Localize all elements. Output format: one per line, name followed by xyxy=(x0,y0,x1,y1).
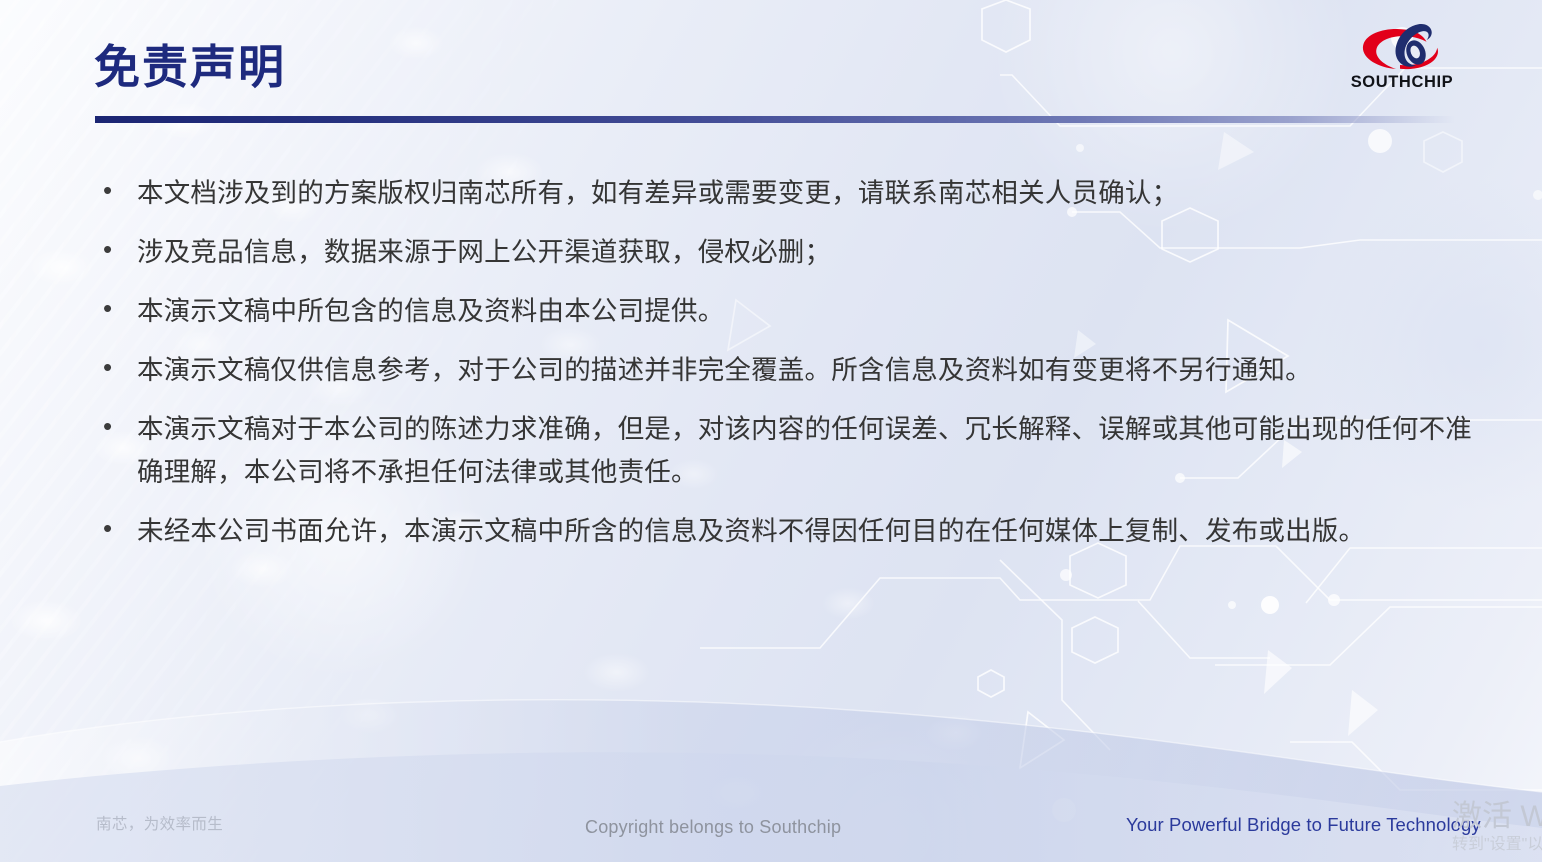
list-item: • 未经本公司书面允许，本演示文稿中所含的信息及资料不得因任何目的在任何媒体上复… xyxy=(95,510,1495,553)
southchip-logo-icon xyxy=(1356,22,1448,76)
list-item: • 本演示文稿中所包含的信息及资料由本公司提供。 xyxy=(95,290,1495,333)
footer-slogan: 南芯，为效率而生 xyxy=(96,812,223,834)
title-underline-rule xyxy=(95,116,1455,123)
list-item-text: 本演示文稿对于本公司的陈述力求准确，但是，对该内容的任何误差、冗长解释、误解或其… xyxy=(137,408,1495,494)
watermark-subtitle: 转到"设置"以激活 Windows xyxy=(1452,834,1542,856)
list-item-text: 本演示文稿仅供信息参考，对于公司的描述并非完全覆盖。所含信息及资料如有变更将不另… xyxy=(137,349,1495,392)
bullet-marker-icon: • xyxy=(95,408,137,444)
logo-wordmark: SOUTHCHIP xyxy=(1348,74,1456,91)
disclaimer-bullet-list: • 本文档涉及到的方案版权归南芯所有，如有差异或需要变更，请联系南芯相关人员确认… xyxy=(95,172,1495,569)
bullet-marker-icon: • xyxy=(95,349,137,385)
list-item-text: 涉及竞品信息，数据来源于网上公开渠道获取，侵权必删； xyxy=(137,231,1495,274)
windows-activation-watermark: 激活 Windows 转到"设置"以激活 Windows xyxy=(1452,800,1542,856)
presentation-slide: 免责声明 SOUTHCHIP • 本文档涉及到的方案版权归南芯所有，如有差异或需… xyxy=(0,0,1542,862)
page-title: 免责声明 xyxy=(94,44,286,90)
bullet-marker-icon: • xyxy=(95,510,137,546)
footer-copyright: Copyright belongs to Southchip xyxy=(585,817,841,838)
list-item-text: 本演示文稿中所包含的信息及资料由本公司提供。 xyxy=(137,290,1495,333)
list-item-text: 未经本公司书面允许，本演示文稿中所含的信息及资料不得因任何目的在任何媒体上复制、… xyxy=(137,510,1495,553)
list-item: • 本演示文稿对于本公司的陈述力求准确，但是，对该内容的任何误差、冗长解释、误解… xyxy=(95,408,1495,494)
bullet-marker-icon: • xyxy=(95,172,137,208)
company-logo: SOUTHCHIP xyxy=(1348,22,1456,98)
list-item: • 本文档涉及到的方案版权归南芯所有，如有差异或需要变更，请联系南芯相关人员确认… xyxy=(95,172,1495,215)
bullet-marker-icon: • xyxy=(95,290,137,326)
watermark-title: 激活 Windows xyxy=(1452,800,1542,834)
list-item-text: 本文档涉及到的方案版权归南芯所有，如有差异或需要变更，请联系南芯相关人员确认； xyxy=(137,172,1495,215)
list-item: • 涉及竞品信息，数据来源于网上公开渠道获取，侵权必删； xyxy=(95,231,1495,274)
list-item: • 本演示文稿仅供信息参考，对于公司的描述并非完全覆盖。所含信息及资料如有变更将… xyxy=(95,349,1495,392)
footer-tagline: Your Powerful Bridge to Future Technolog… xyxy=(1126,814,1481,836)
bullet-marker-icon: • xyxy=(95,231,137,267)
